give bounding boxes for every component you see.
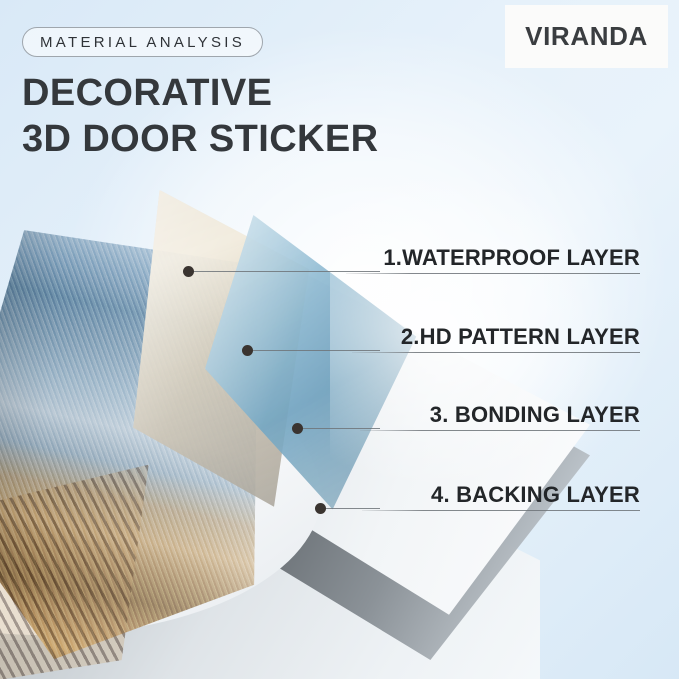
callout-label-2: 2.HD PATTERN LAYER [340,324,640,350]
callout-label-3: 3. BONDING LAYER [340,402,640,428]
title-line-1: DECORATIVE [22,72,272,114]
material-analysis-poster: MATERIAL ANALYSIS DECORATIVE 3D DOOR STI… [0,0,679,679]
callout-underline-3 [360,430,640,431]
eyebrow-label: MATERIAL ANALYSIS [40,34,245,51]
brand-logo-box: VIRANDA [505,5,668,68]
callout-label-1: 1.WATERPROOF LAYER [340,245,640,271]
callout-dot-4 [315,503,326,514]
callout-dot-2 [242,345,253,356]
callout-leader-4 [326,508,380,509]
brand-name: VIRANDA [525,21,648,52]
callout-dot-3 [292,423,303,434]
eyebrow-badge: MATERIAL ANALYSIS [22,27,263,57]
callout-leader-2 [253,350,380,351]
callout-leader-3 [303,428,380,429]
callout-underline-2 [352,352,640,353]
title-line-2: 3D DOOR STICKER [22,116,378,162]
callout-dot-1 [183,266,194,277]
callout-label-4: 4. BACKING LAYER [340,482,640,508]
callout-underline-4 [362,510,640,511]
page-title: DECORATIVE 3D DOOR STICKER [22,70,378,162]
callout-leader-1 [194,271,380,272]
callout-underline-1 [346,273,640,274]
